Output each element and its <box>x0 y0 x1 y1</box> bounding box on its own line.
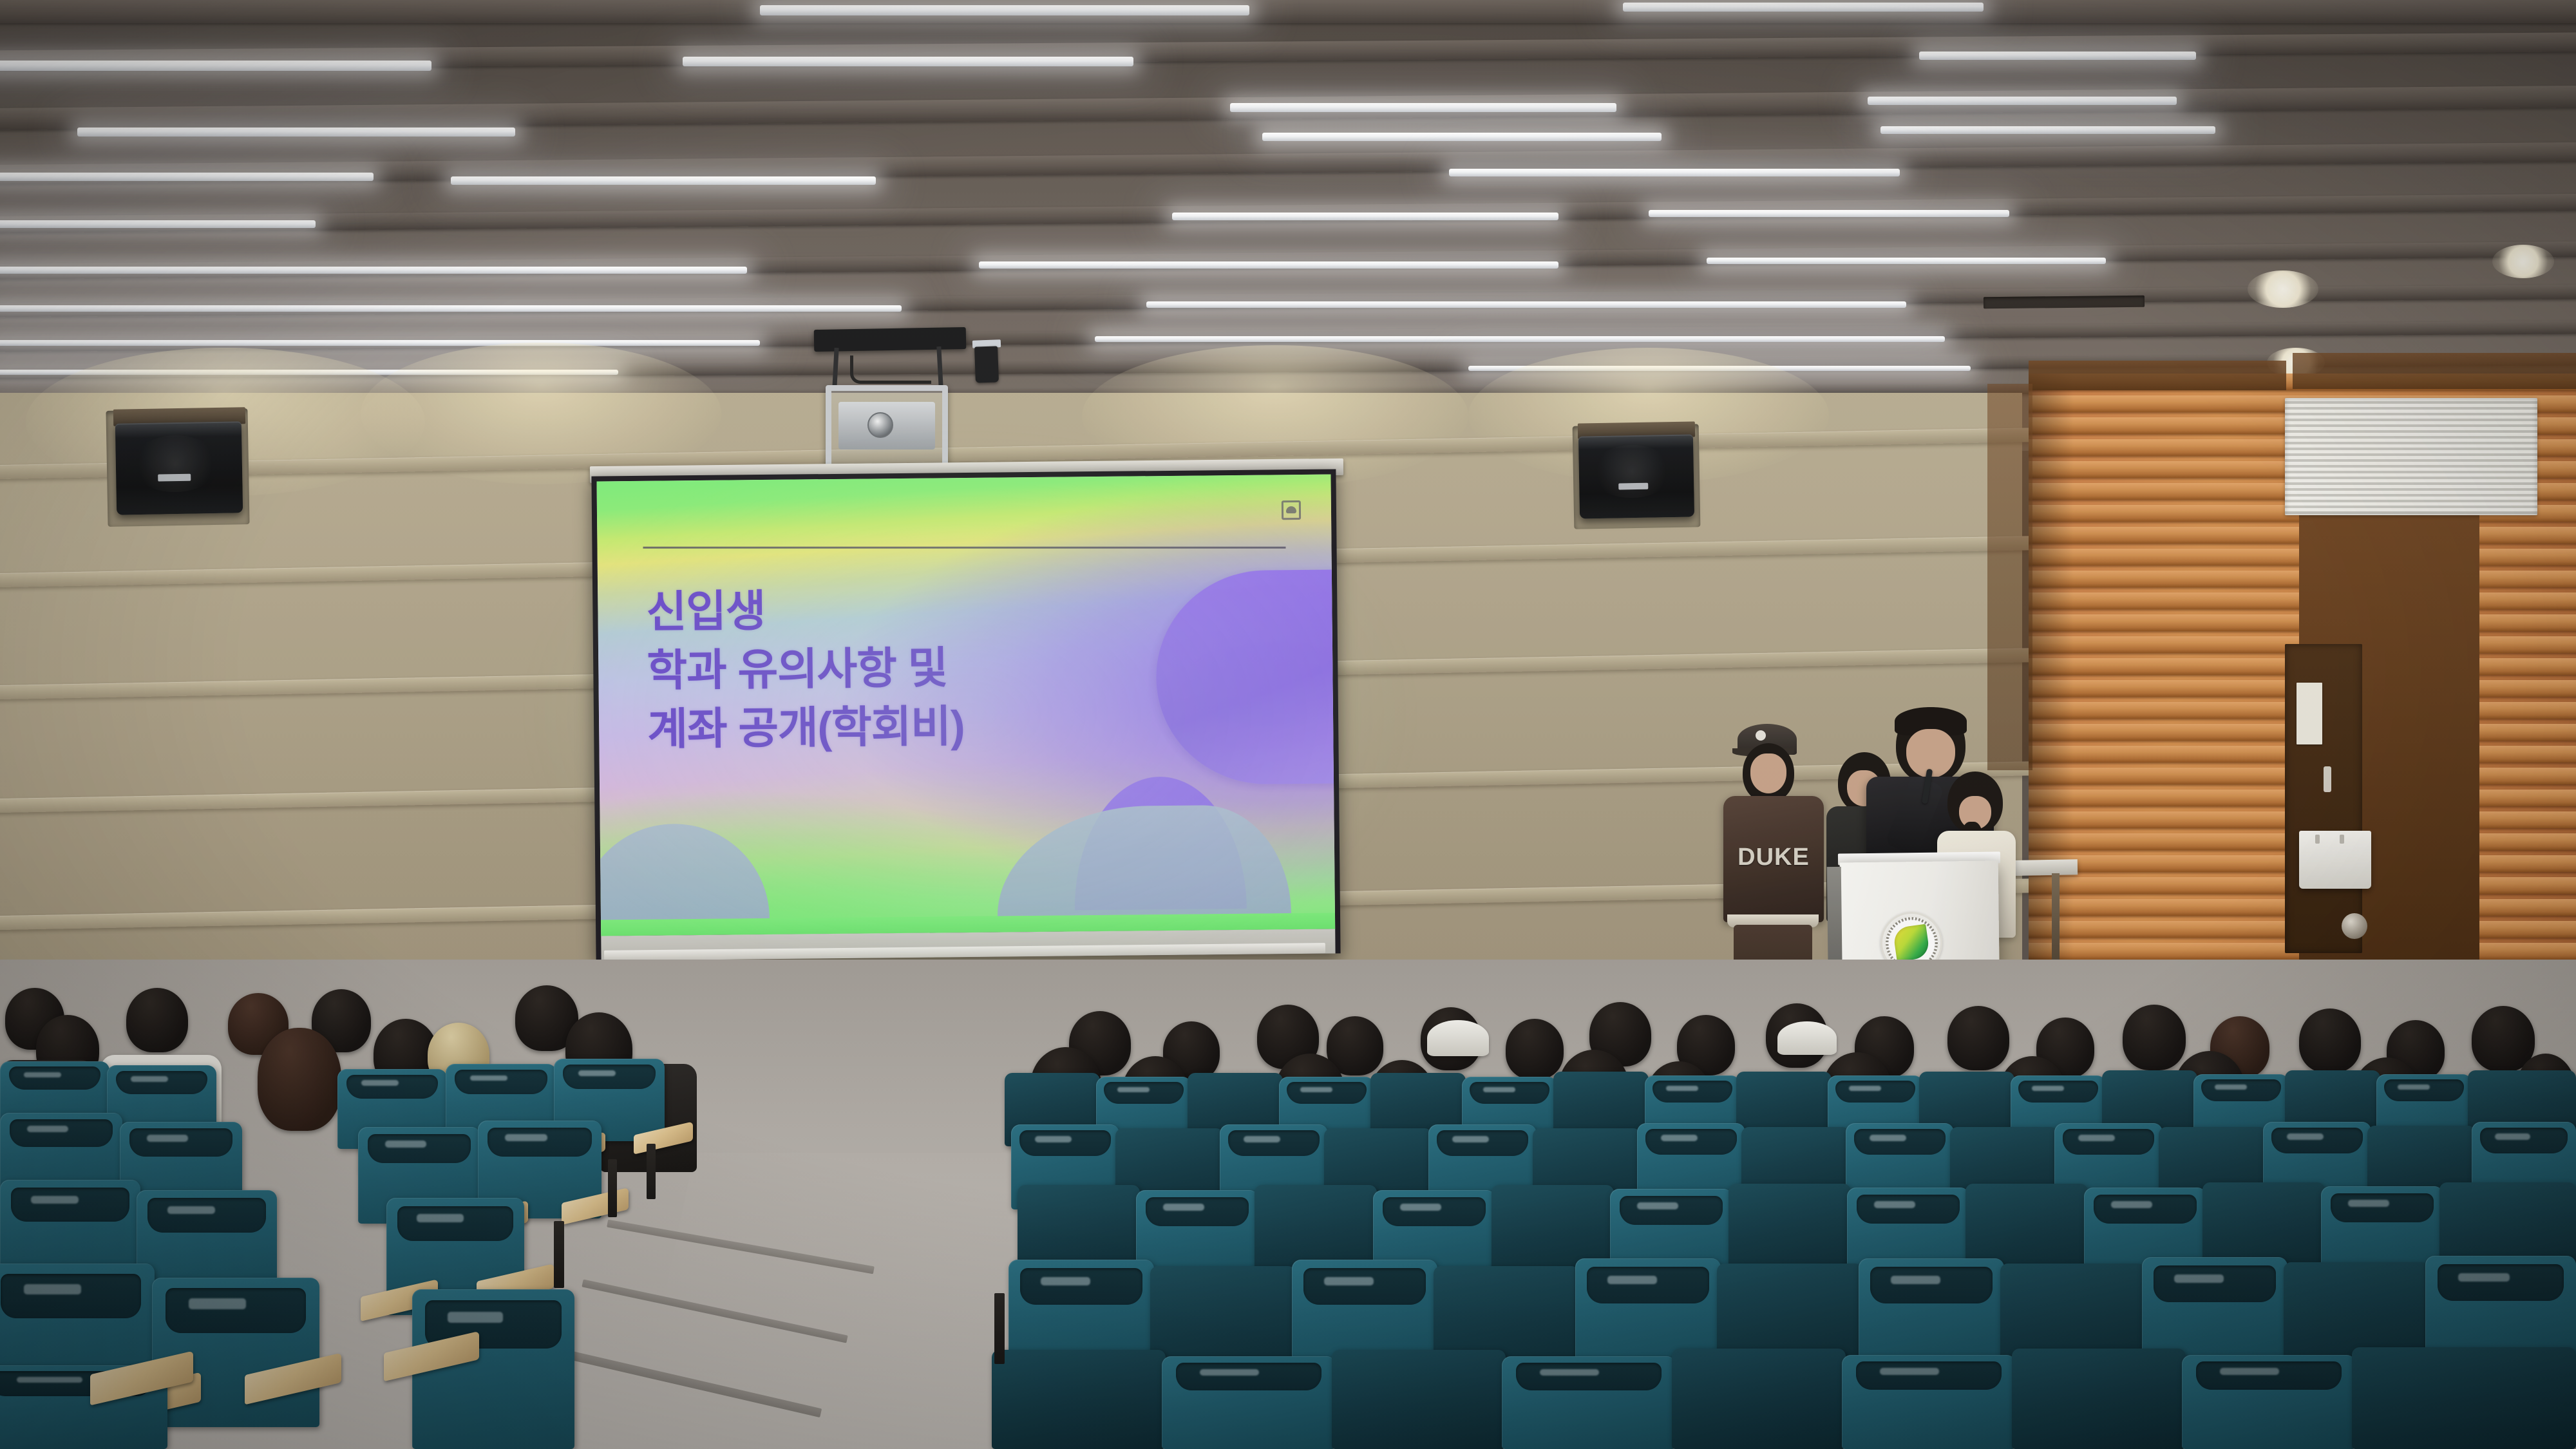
ceiling-light-strip <box>1146 301 1906 308</box>
ceiling-light-strip <box>1919 52 2196 60</box>
ceiling-light-strip <box>1230 103 1616 112</box>
seat[interactable] <box>2352 1347 2576 1449</box>
seat[interactable] <box>1162 1356 1336 1449</box>
ceiling-light-strip <box>0 340 760 346</box>
ceiling-downlight <box>2492 245 2554 278</box>
ceiling-light-strip <box>0 61 431 71</box>
ceiling-light-strip <box>979 261 1558 269</box>
slide-decor-arc-left <box>596 823 770 920</box>
ceiling-light-strip <box>1623 3 1984 12</box>
seat[interactable] <box>1332 1350 1506 1449</box>
ceiling-light-strip <box>0 305 902 312</box>
ceiling-light-strip <box>760 5 1249 15</box>
hoodie-graphic-text: DUKE <box>1723 844 1824 871</box>
ceiling-light-strip <box>1262 133 1662 141</box>
ceiling-light-strip <box>1449 169 1900 176</box>
wall-upper-shadow <box>2029 361 2286 390</box>
ceiling-light-strip <box>77 128 515 137</box>
wall-dispenser[interactable] <box>2299 831 2371 889</box>
slide-title: 신입생 학과 유의사항 및 계좌 공개(학회비) <box>646 578 1176 759</box>
ceiling-light-strip <box>451 176 876 185</box>
slide-decor-arc-center <box>996 804 1291 916</box>
ceiling-light-strip <box>1172 213 1558 220</box>
seat[interactable] <box>1842 1355 2016 1449</box>
wall-knob <box>2342 913 2367 939</box>
ceiling-light-strip <box>0 173 374 181</box>
seat[interactable] <box>992 1350 1166 1449</box>
ceiling-light-strip <box>1707 258 2106 264</box>
seat[interactable] <box>1502 1356 1676 1449</box>
white-cap <box>1427 1020 1489 1056</box>
door-handle[interactable] <box>2324 766 2331 792</box>
ceiling-light-strip <box>1868 97 2177 105</box>
ceiling-light-strip <box>683 57 1133 66</box>
department-mark-icon <box>1282 500 1301 520</box>
ceiling-light-strip <box>0 220 316 228</box>
ceiling-light-strip <box>1880 126 2215 134</box>
slide-title-line-1: 신입생 <box>646 578 1175 642</box>
door-notice <box>2297 683 2322 744</box>
slide-divider-rule <box>643 546 1285 548</box>
slide-decor-blob <box>1155 569 1335 785</box>
security-camera-icon <box>974 346 999 383</box>
seat[interactable] <box>2012 1349 2186 1449</box>
projection-screen: 신입생 학과 유의사항 및 계좌 공개(학회비) <box>590 456 1343 962</box>
seat[interactable] <box>2182 1355 2356 1449</box>
ceiling-light-strip <box>1095 336 1945 342</box>
ceiling-downlight <box>2248 270 2318 308</box>
seat[interactable] <box>1672 1349 1846 1449</box>
slide-canvas: 신입생 학과 유의사항 및 계좌 공개(학회비) <box>596 475 1335 936</box>
wall-upper-shadow <box>2293 353 2576 389</box>
white-cap <box>1777 1021 1837 1055</box>
ceiling-light-strip <box>0 267 747 274</box>
slide-title-line-2: 학과 유의사항 및 <box>647 637 1176 701</box>
louvered-panel <box>2285 398 2537 515</box>
ceiling-light-strip <box>1649 210 2009 217</box>
hoodie: DUKE <box>1723 796 1824 922</box>
ceiling-recess <box>1984 296 2145 309</box>
projector <box>838 402 935 450</box>
slide-title-line-3: 계좌 공개(학회비) <box>647 696 1177 759</box>
auditorium-photo: 신입생 학과 유의사항 및 계좌 공개(학회비) <box>0 0 2576 1449</box>
projector-lens <box>867 412 893 438</box>
